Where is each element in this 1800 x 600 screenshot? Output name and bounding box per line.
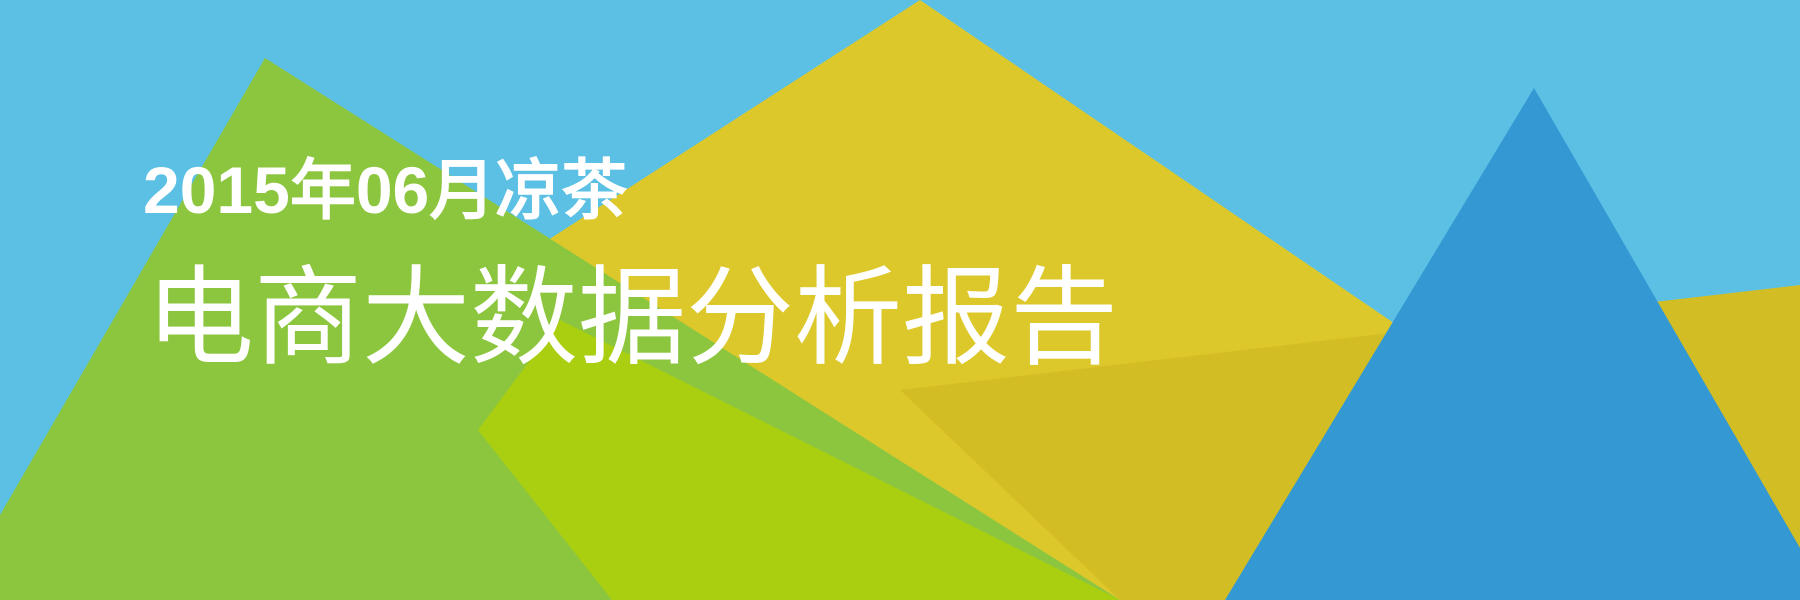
report-cover-banner: 2015年06月凉茶 电商大数据分析报告 (0, 0, 1800, 600)
background-artwork (0, 0, 1800, 600)
